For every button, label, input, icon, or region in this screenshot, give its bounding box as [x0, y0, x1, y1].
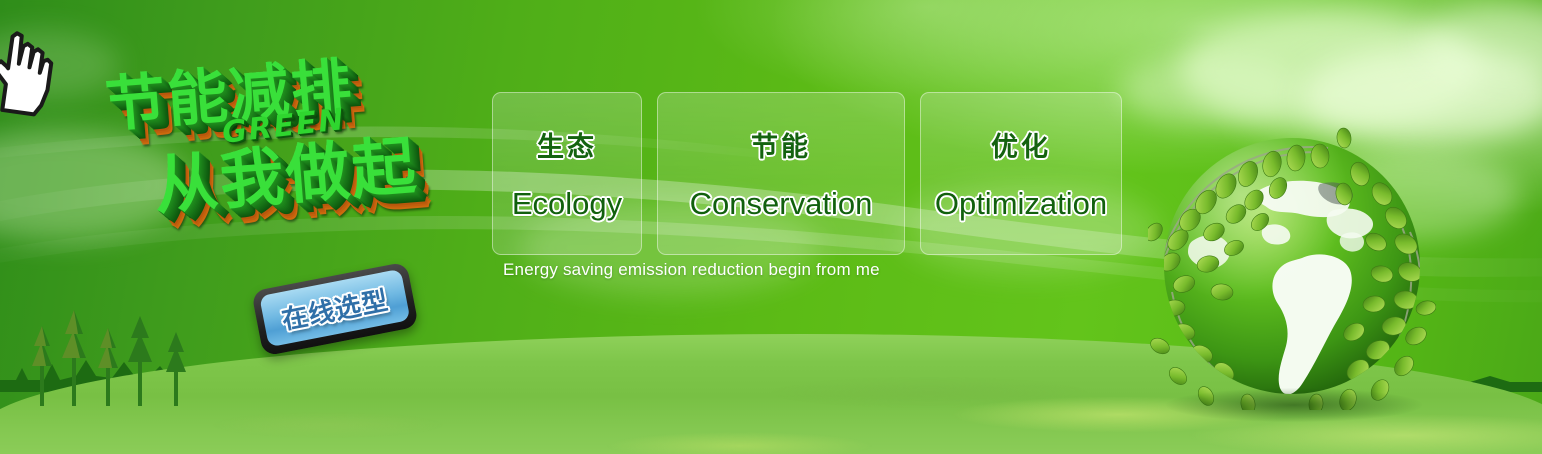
feature-card-title-en: Conservation: [690, 186, 873, 222]
feature-card-conservation[interactable]: 节能 Conservation: [657, 92, 905, 255]
feature-card-title-cn: 优化: [991, 125, 1051, 164]
globe-shadow: [1166, 388, 1422, 422]
clouds-icon: [1420, 5, 1542, 85]
clouds-icon: [1180, 10, 1480, 130]
feature-card-title-en: Ecology: [512, 186, 622, 222]
clouds-icon: [1120, 55, 1300, 125]
feature-card-title-cn: 节能: [751, 125, 811, 164]
feature-card-title-cn: 生态: [537, 125, 597, 164]
feature-card-optimization[interactable]: 优化 Optimization: [920, 92, 1122, 255]
leafy-green-globe-icon: [1148, 122, 1436, 410]
feature-card-list: 生态 Ecology 节能 Conservation 优化 Optimizati…: [492, 92, 1122, 255]
green-promo-banner: 节能减排 GREEN 从我做起 在线选型 生态 Ecology 节能 Conse…: [0, 0, 1542, 454]
online-model-selection-button[interactable]: 在线选型: [251, 262, 419, 357]
pointing-hand-cursor-icon: [0, 19, 64, 121]
feature-card-title-en: Optimization: [935, 186, 1107, 222]
feature-card-ecology[interactable]: 生态 Ecology: [492, 92, 642, 255]
hero-headline: 节能减排 GREEN 从我做起: [88, 23, 505, 284]
banner-tagline: Energy saving emission reduction begin f…: [503, 260, 880, 280]
headline-line-2: 从我做起: [150, 115, 420, 227]
pine-trees-icon: [10, 296, 220, 406]
